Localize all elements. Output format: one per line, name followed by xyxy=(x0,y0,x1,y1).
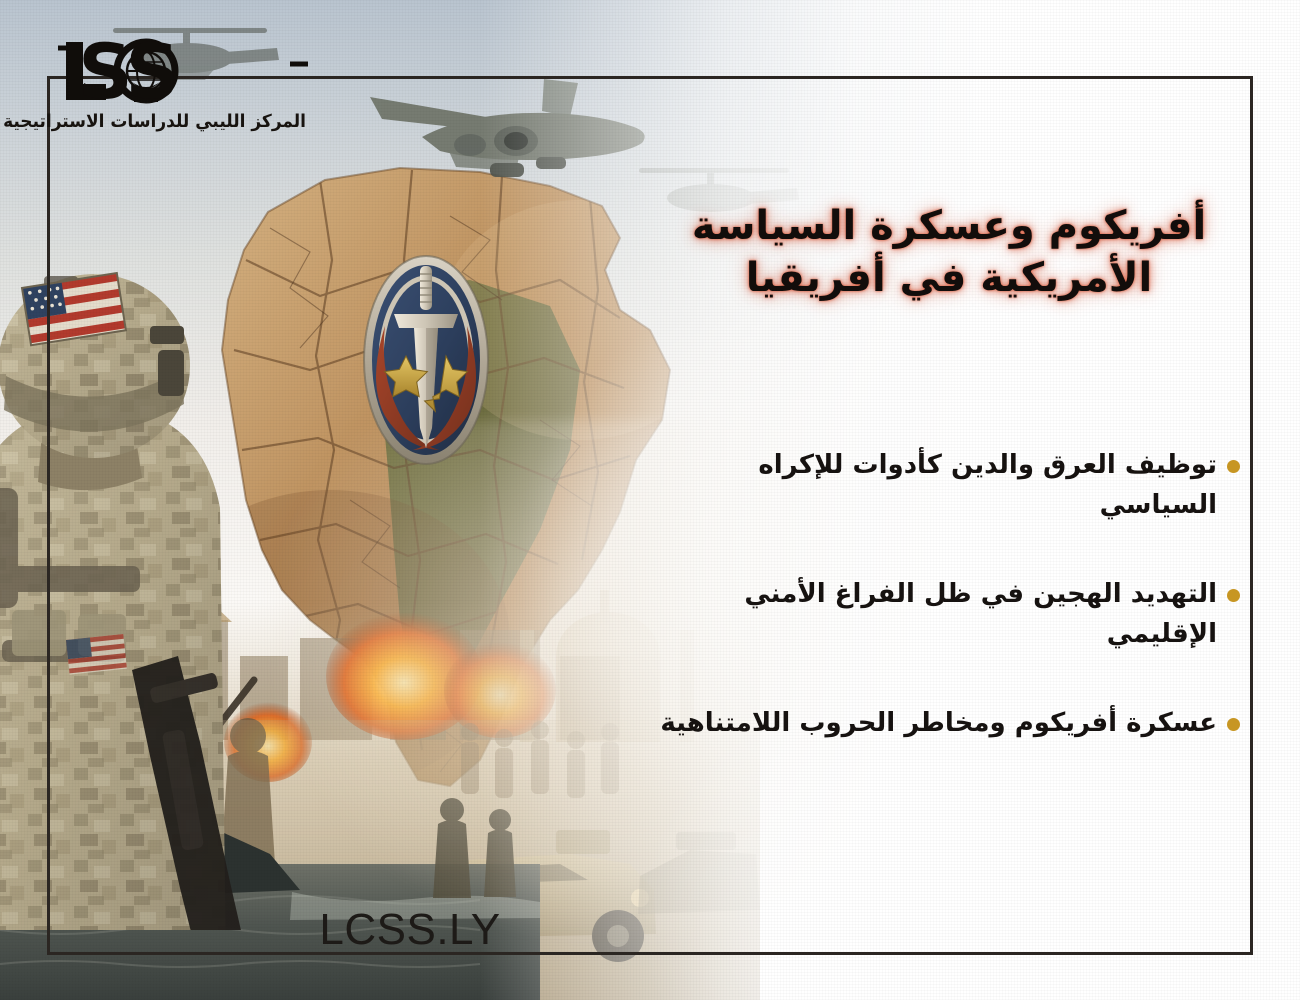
list-item-label: توظيف العرق والدين كأدوات للإكراه السياس… xyxy=(650,446,1217,525)
bullet-dot-icon xyxy=(1227,718,1240,731)
list-item-label: التهديد الهجين في ظل الفراغ الأمني الإقل… xyxy=(650,575,1217,654)
list-item: عسكرة أفريكوم ومخاطر الحروب اللامتناهية xyxy=(650,704,1240,744)
lcss-logo-subtitle: المركز الليبي للدراسات الاستراتيجية xyxy=(66,112,306,133)
svg-text:SS: SS xyxy=(78,36,176,116)
page-title: أفريكوم وعسكرة السياسة الأمريكية في أفري… xyxy=(640,200,1240,304)
lcss-logo[interactable]: SS المركز الليبي للدراسات الاستراتيجية xyxy=(58,36,308,151)
lcss-wordmark: SS xyxy=(58,36,308,116)
list-item: التهديد الهجين في ظل الفراغ الأمني الإقل… xyxy=(650,575,1240,654)
list-item-label: عسكرة أفريكوم ومخاطر الحروب اللامتناهية xyxy=(650,704,1217,744)
africom-shield-emblem xyxy=(361,252,491,468)
bullet-dot-icon xyxy=(1227,460,1240,473)
key-points-list: توظيف العرق والدين كأدوات للإكراه السياس… xyxy=(640,446,1240,744)
content-column: أفريكوم وعسكرة السياسة الأمريكية في أفري… xyxy=(640,140,1240,744)
list-item: توظيف العرق والدين كأدوات للإكراه السياس… xyxy=(650,446,1240,525)
bullet-dot-icon xyxy=(1227,589,1240,602)
infographic-poster: SS المركز الليبي للدراسات الاستراتيجية أ… xyxy=(0,0,1300,1000)
